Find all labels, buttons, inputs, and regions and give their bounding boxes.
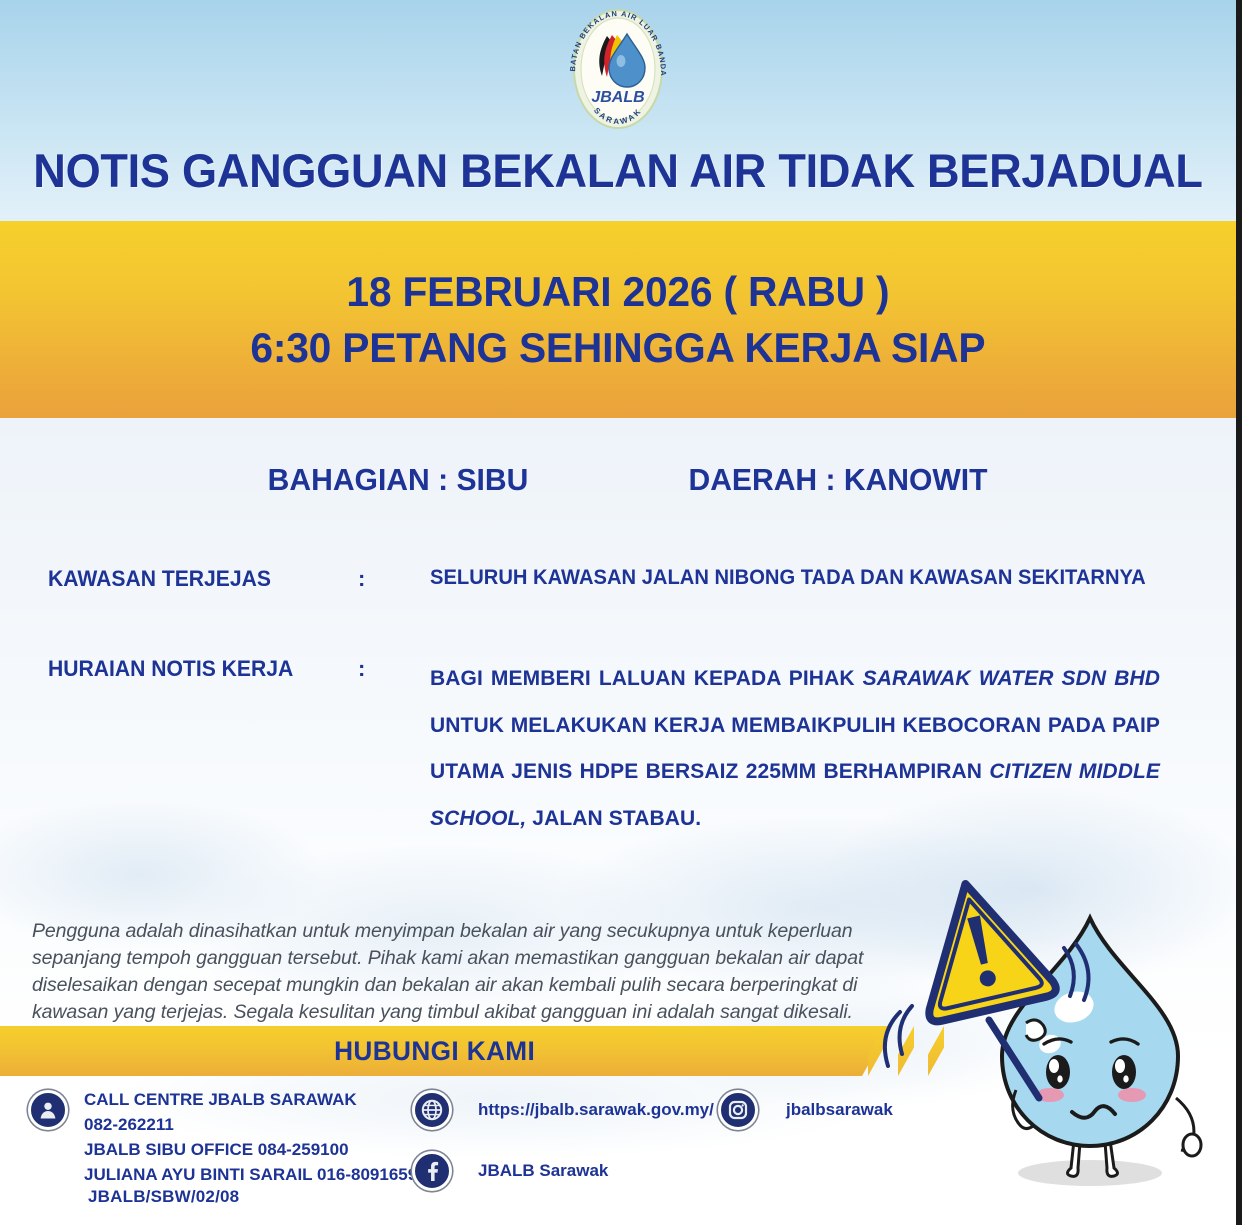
website-row[interactable]: https://jbalb.sarawak.gov.my/ — [412, 1090, 714, 1130]
work-description-text: BAGI MEMBERI LALUAN KEPADA PIHAK — [430, 667, 863, 690]
work-description-colon: : — [358, 656, 430, 682]
location-row: BAHAGIAN : SIBU DAERAH : KANOWIT — [0, 462, 1236, 498]
facebook-handle[interactable]: JBALB Sarawak — [478, 1161, 608, 1181]
svg-text:JBALB: JBALB — [591, 89, 644, 106]
work-description-emphasis: SARAWAK WATER SDN BHD — [863, 667, 1160, 690]
jbalb-logo: JABATAN BEKALAN AIR LUAR BANDAR SARAWAK … — [555, 6, 681, 132]
facebook-row[interactable]: JBALB Sarawak — [412, 1151, 714, 1191]
band-stripe-decoration — [928, 1026, 944, 1076]
work-description-value: BAGI MEMBERI LALUAN KEPADA PIHAK SARAWAK… — [430, 656, 1160, 842]
instagram-handle[interactable]: jbalbsarawak — [786, 1100, 893, 1120]
advisory-paragraph: Pengguna adalah dinasihatkan untuk menyi… — [32, 918, 878, 1026]
contact-band-wrapper: HUBUNGI KAMI — [0, 1026, 1236, 1076]
work-description-label: HURAIAN NOTIS KERJA — [48, 656, 346, 682]
person-icon — [28, 1090, 68, 1130]
phone-contact-block: CALL CENTRE JBALB SARAWAK 082-262211 JBA… — [28, 1090, 417, 1188]
water-disruption-notice-poster: JABATAN BEKALAN AIR LUAR BANDAR SARAWAK … — [0, 0, 1242, 1225]
contact-line: JBALB SIBU OFFICE 084-259100 — [84, 1137, 417, 1162]
poster-header: JABATAN BEKALAN AIR LUAR BANDAR SARAWAK … — [0, 0, 1236, 221]
jbalb-logo-svg: JABATAN BEKALAN AIR LUAR BANDAR SARAWAK … — [555, 6, 681, 132]
phone-contact-lines: CALL CENTRE JBALB SARAWAK 082-262211 JBA… — [84, 1087, 417, 1188]
contact-line: 082-262211 — [84, 1112, 417, 1137]
work-description-text: JALAN STABAU. — [526, 807, 701, 830]
contact-band: HUBUNGI KAMI — [0, 1026, 890, 1076]
poster-body: BAHAGIAN : SIBU DAERAH : KANOWIT KAWASAN… — [0, 418, 1236, 1225]
instagram-block[interactable]: jbalbsarawak — [718, 1090, 893, 1130]
contact-line: CALL CENTRE JBALB SARAWAK — [84, 1087, 417, 1112]
facebook-icon — [412, 1151, 452, 1191]
work-description-row: HURAIAN NOTIS KERJA : BAGI MEMBERI LALUA… — [48, 656, 1160, 842]
website-url[interactable]: https://jbalb.sarawak.gov.my/ — [478, 1100, 714, 1120]
web-social-block: https://jbalb.sarawak.gov.my/ JBALB Sara… — [412, 1090, 714, 1191]
contact-band-label: HUBUNGI KAMI — [334, 1036, 535, 1067]
disruption-time: 6:30 PETANG SEHINGGA KERJA SIAP — [250, 320, 985, 375]
division-label: BAHAGIAN : SIBU — [185, 462, 612, 498]
affected-area-row: KAWASAN TERJEJAS : SELURUH KAWASAN JALAN… — [48, 566, 1176, 592]
affected-area-colon: : — [358, 566, 430, 592]
page-title: NOTIS GANGGUAN BEKALAN AIR TIDAK BERJADU… — [25, 143, 1212, 198]
disruption-date: 18 FEBRUARI 2026 ( RABU ) — [346, 264, 889, 319]
date-time-band: 18 FEBRUARI 2026 ( RABU ) 6:30 PETANG SE… — [0, 221, 1236, 418]
district-label: DAERAH : KANOWIT — [625, 462, 1052, 498]
affected-area-value: SELURUH KAWASAN JALAN NIBONG TADA DAN KA… — [430, 566, 1146, 590]
contact-line: JULIANA AYU BINTI SARAIL 016-8091659 — [84, 1162, 417, 1187]
instagram-icon — [718, 1090, 758, 1130]
reference-number: JBALB/SBW/02/08 — [88, 1187, 239, 1207]
band-stripe-decoration — [898, 1026, 914, 1076]
globe-icon — [412, 1090, 452, 1130]
affected-area-label: KAWASAN TERJEJAS — [48, 566, 346, 592]
